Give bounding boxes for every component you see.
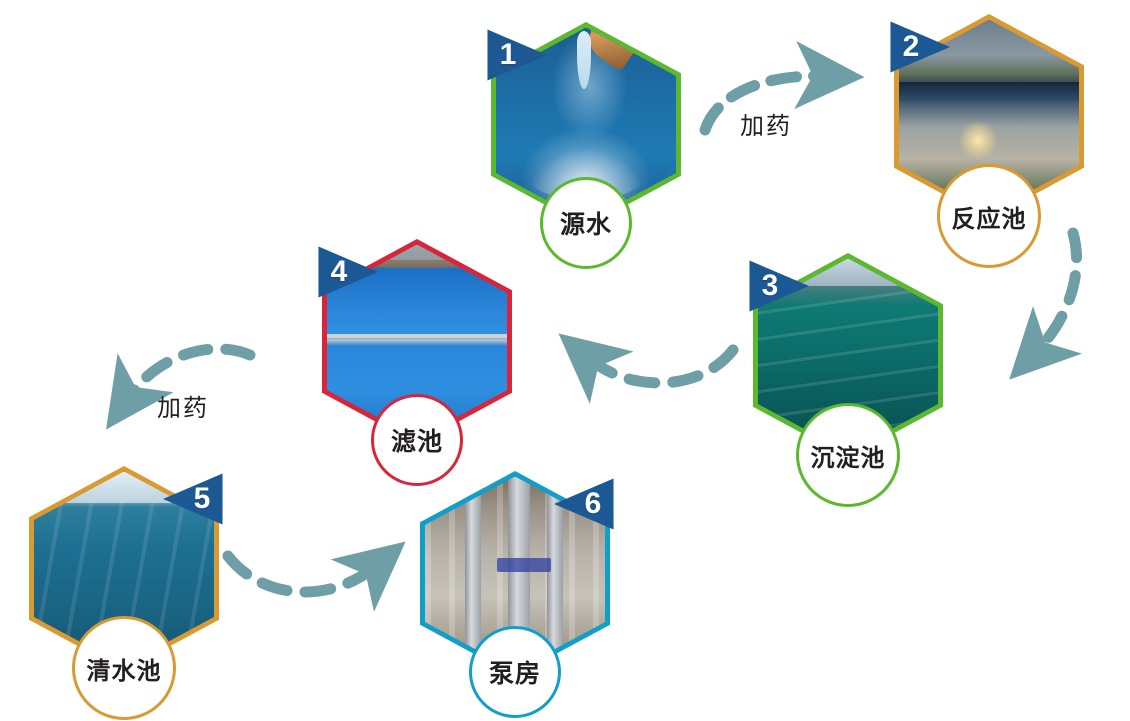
step-number-1: 1 xyxy=(500,40,517,70)
node-label-1: 源水 xyxy=(560,205,612,241)
node-caption-2[interactable]: 反应池 xyxy=(937,164,1041,268)
process-node-3[interactable]: 3 沉淀池 xyxy=(753,253,943,503)
node-caption-6[interactable]: 泵房 xyxy=(469,626,561,718)
step-number-5: 5 xyxy=(194,484,211,514)
node-label-3: 沉淀池 xyxy=(811,438,886,473)
node-label-4: 滤池 xyxy=(391,422,443,458)
arrow-clearwater-to-pumphouse xyxy=(228,556,376,592)
process-flow-diagram: 加药 加药 1 源水 xyxy=(0,0,1130,714)
process-node-1[interactable]: 1 源水 xyxy=(491,22,681,272)
arrow-label-dosing-1: 加药 xyxy=(740,106,792,141)
arrow-label-dosing-2: 加药 xyxy=(157,388,209,423)
node-label-6: 泵房 xyxy=(489,654,541,690)
basin-walkway-band xyxy=(899,82,1079,101)
node-label-5: 清水池 xyxy=(87,651,162,686)
node-caption-3[interactable]: 沉淀池 xyxy=(796,403,900,507)
water-drop-icon xyxy=(577,31,591,89)
process-node-6[interactable]: 6 泵房 xyxy=(420,471,610,721)
pump-valve xyxy=(497,558,551,572)
process-node-5[interactable]: 5 清水池 xyxy=(29,466,219,716)
step-number-3: 3 xyxy=(762,271,779,301)
node-caption-5[interactable]: 清水池 xyxy=(72,616,176,720)
arrow-sedimentation-to-filter xyxy=(588,350,733,383)
pump-pipe xyxy=(465,477,481,671)
node-caption-1[interactable]: 源水 xyxy=(540,177,632,269)
step-number-4: 4 xyxy=(331,257,348,287)
process-node-4[interactable]: 4 滤池 xyxy=(322,239,512,489)
step-number-6: 6 xyxy=(585,489,602,519)
step-number-2: 2 xyxy=(903,32,920,62)
filter-mid-beam xyxy=(327,334,507,338)
node-label-2: 反应池 xyxy=(952,199,1027,234)
process-node-2[interactable]: 2 反应池 xyxy=(894,14,1084,264)
